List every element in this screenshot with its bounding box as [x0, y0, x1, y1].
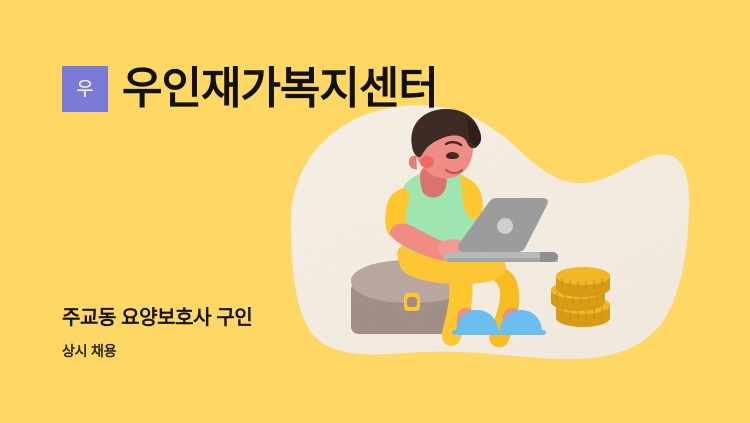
- laptop-graphic: [444, 198, 558, 262]
- legs-graphic: [397, 240, 519, 348]
- coin-stack-graphic: [551, 267, 610, 327]
- arm-graphic: [390, 224, 468, 262]
- job-ad-banner: 우 우인재가복지센터 주교동 요양보호사 구인 상시 채용: [0, 0, 750, 423]
- head-graphic: [409, 109, 481, 198]
- ankles-graphic: [457, 308, 521, 329]
- job-headline: 주교동 요양보호사 구인: [62, 306, 252, 331]
- torso-graphic: [385, 170, 483, 256]
- job-subline: 상시 채용: [62, 343, 252, 360]
- shoes-graphic: [452, 310, 546, 335]
- brand-header: 우 우인재가복지센터: [62, 66, 438, 112]
- briefcase-graphic: [351, 252, 471, 334]
- page-title: 우인재가복지센터: [122, 67, 438, 111]
- brand-badge: 우: [62, 66, 108, 112]
- job-copy-block: 주교동 요양보호사 구인 상시 채용: [62, 306, 252, 360]
